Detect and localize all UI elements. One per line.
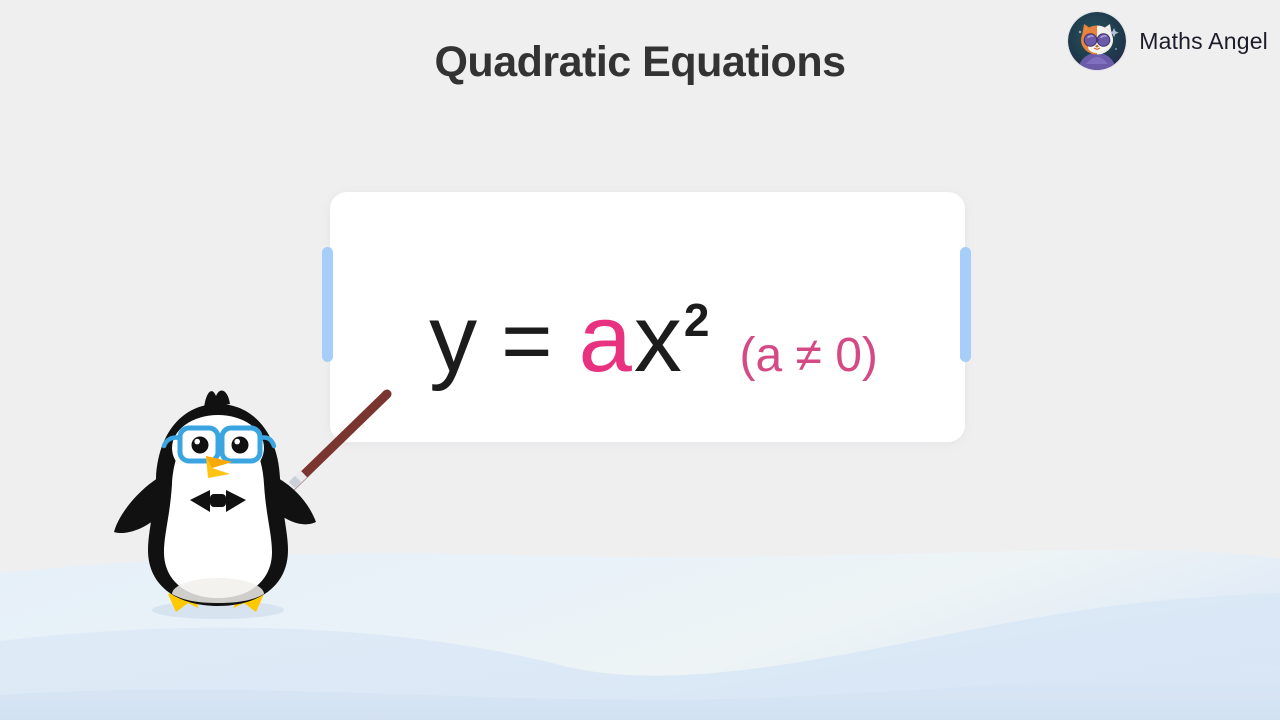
equation-lhs: y [429,291,477,387]
equation-coefficient: a [579,291,632,387]
penguin-eye-left [192,437,209,454]
equation-condition: (a ≠ 0) [740,332,878,380]
glasses-icon [164,428,274,461]
equation-display: y = a x 2 (a ≠ 0) [330,192,965,442]
penguin-eye-right [232,437,249,454]
slide-canvas: Quadratic Equations [0,0,1280,720]
equation-exponent: 2 [684,297,710,343]
brand-name: Maths Angel [1139,28,1268,55]
brand-logo[interactable]: Maths Angel [1068,12,1268,70]
penguin-teacher [112,382,412,632]
cat-avatar-icon [1068,12,1126,70]
equation-equals-sign: = [501,297,552,385]
equation-variable: x [634,291,682,387]
